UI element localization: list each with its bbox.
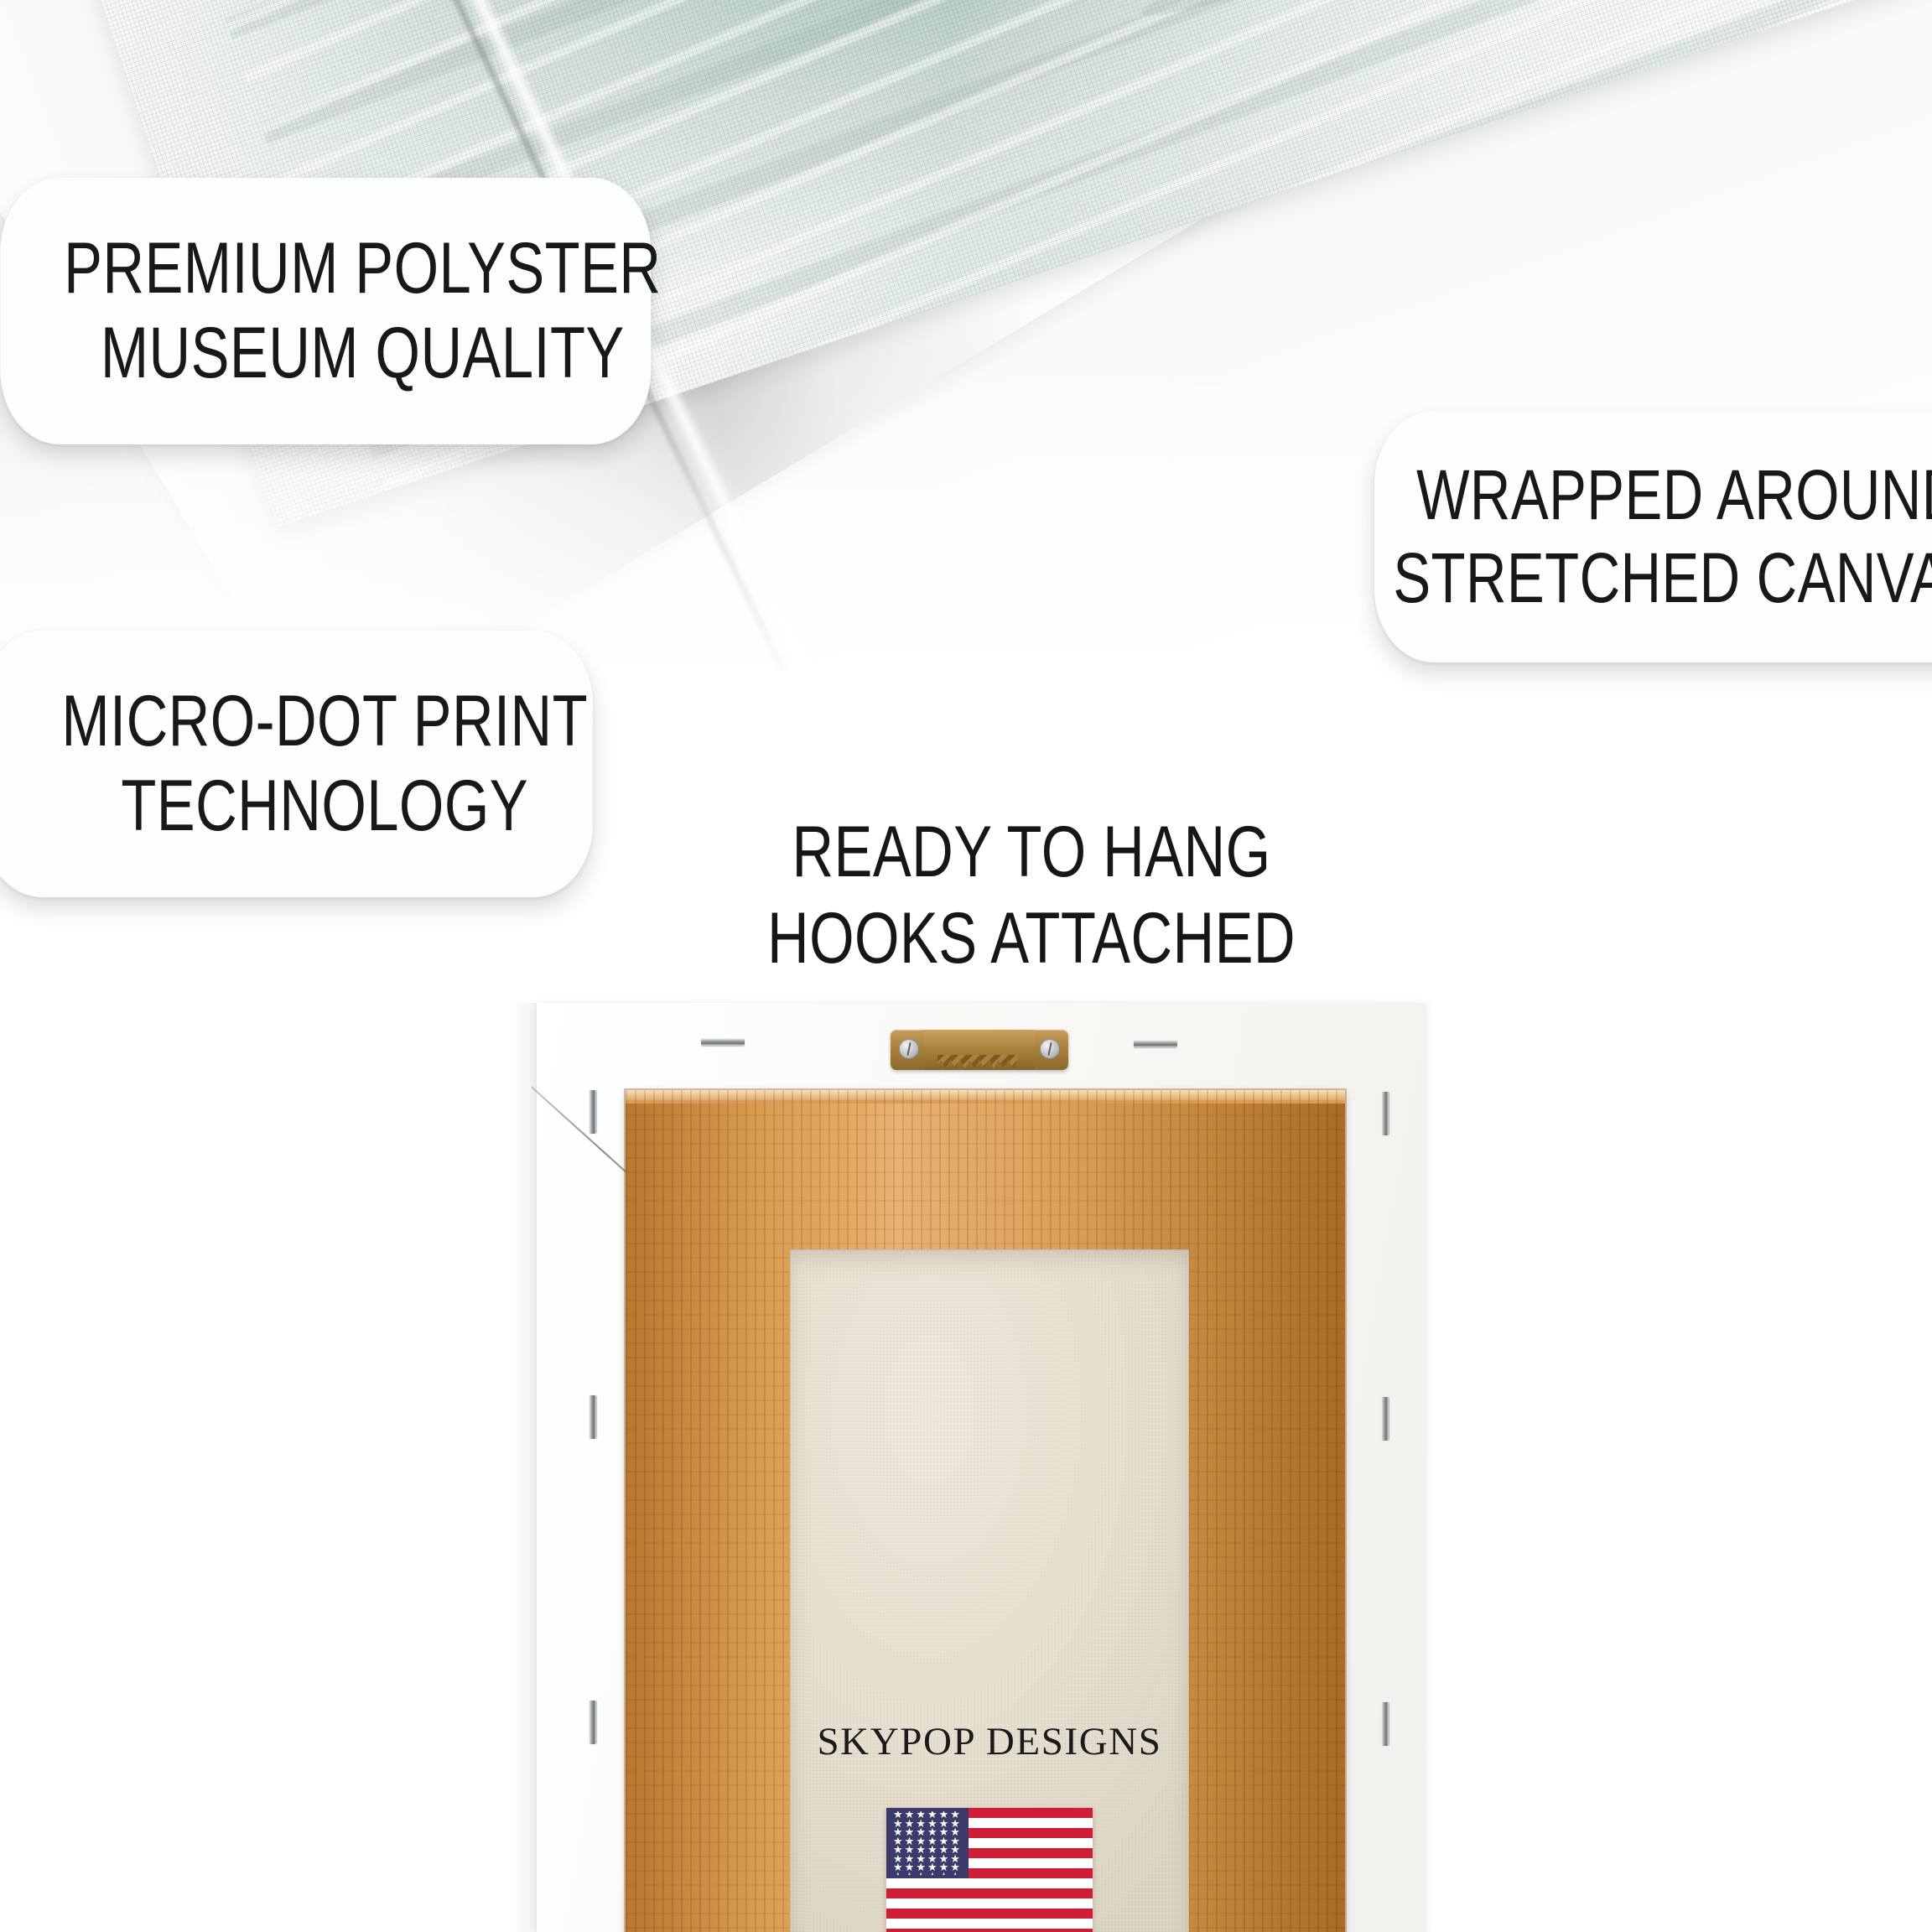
badge-microdot-line-1: MICRO-DOT PRINT (61, 679, 588, 764)
wall-background-strip (508, 1003, 538, 1932)
brand-wordmark: SKYPOP DESIGNS (790, 1719, 1189, 1764)
hanger-middle-band (924, 1030, 1035, 1070)
united-states-flag-icon: ★★★★★★★★★★★★★★★★★★★★★★★★★★★★★★★★★★★★★★★★… (886, 1808, 1093, 1932)
staple (1134, 1040, 1177, 1047)
badge-wrapped-line-2: STRETCHED CANVAS (1393, 537, 1932, 620)
badge-premium-polyster: PREMIUM POLYSTER MUSEUM QUALITY (0, 178, 651, 444)
staple (1381, 1702, 1389, 1746)
canvas-back-panel: SKYPOP DESIGNS ★★★★★★★★★★★★★★★★★★★★★★★★★… (790, 1249, 1189, 1932)
sawtooth-hanger-icon (891, 1030, 1068, 1070)
flag-stars: ★★★★★★★★★★★★★★★★★★★★★★★★★★★★★★★★★★★★★★★★… (890, 1811, 965, 1875)
hanger-screw-right-icon (1040, 1039, 1060, 1059)
staple (589, 1090, 596, 1134)
badge-wrapped-line-1: WRAPPED AROUND (1416, 454, 1932, 537)
badge-wrapped-around: WRAPPED AROUND STRETCHED CANVAS (1374, 411, 1932, 662)
flag-canton: ★★★★★★★★★★★★★★★★★★★★★★★★★★★★★★★★★★★★★★★★… (886, 1808, 969, 1878)
staple (1381, 1397, 1389, 1441)
ready-caption-line-2: HOOKS ATTACHED (662, 896, 1400, 982)
badge-premium-line-1: PREMIUM POLYSTER (64, 226, 661, 311)
ready-to-hang-caption: READY TO HANG HOOKS ATTACHED (662, 809, 1400, 982)
badge-microdot-line-2: TECHNOLOGY (121, 764, 528, 849)
badge-micro-dot-print: MICRO-DOT PRINT TECHNOLOGY (0, 631, 593, 897)
infographic-canvas: PREMIUM POLYSTER MUSEUM QUALITY WRAPPED … (0, 0, 1932, 1932)
staple (701, 1038, 745, 1046)
hanger-screw-left-icon (899, 1039, 919, 1059)
staple (1381, 1092, 1389, 1135)
product-back-photo: SKYPOP DESIGNS ★★★★★★★★★★★★★★★★★★★★★★★★★… (537, 1003, 1426, 1932)
staple (589, 1701, 596, 1744)
ready-caption-line-1: READY TO HANG (662, 809, 1400, 896)
badge-premium-line-2: MUSEUM QUALITY (101, 311, 625, 396)
wooden-stretcher-bars: SKYPOP DESIGNS ★★★★★★★★★★★★★★★★★★★★★★★★★… (626, 1090, 1345, 1932)
staple (589, 1395, 596, 1439)
canvas-wrap-border: SKYPOP DESIGNS ★★★★★★★★★★★★★★★★★★★★★★★★★… (537, 1003, 1426, 1932)
